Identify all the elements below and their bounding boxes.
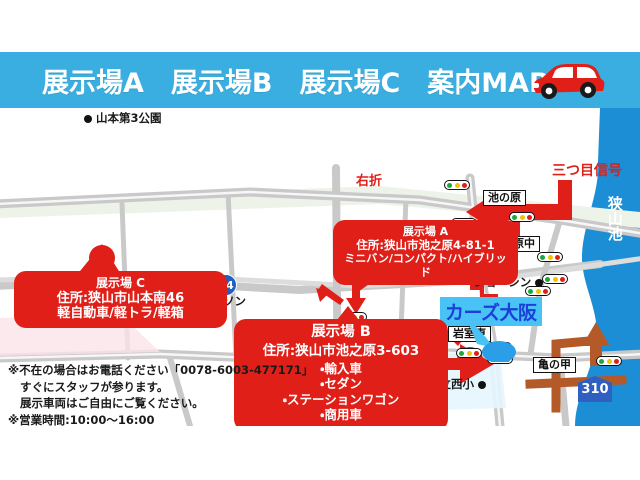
note-line-4: ※営業時間:10:00～16:00 [8, 412, 313, 429]
traffic-signal-icon [525, 286, 551, 296]
footer-notes: ※不在の場合はお電話ください「0078-6003-477171」 すぐにスタッフ… [8, 362, 313, 429]
direction-label-usetsu: 右折 [356, 170, 382, 189]
page-title: 展示場A 展示場B 展示場C 案内MAP [42, 61, 549, 100]
black-dot-icon [478, 381, 486, 389]
showroom-b-callout-tail [330, 306, 366, 326]
page-header: 展示場A 展示場B 展示場C 案内MAP [0, 52, 640, 108]
lake-label-sayamaike: 狭山池 [606, 196, 622, 241]
showroom-c-callout-tail [72, 244, 126, 278]
note-line-1: ※不在の場合はお電話ください「0078-6003-477171」 [8, 362, 313, 379]
red-car-icon [528, 57, 606, 103]
showroom-a-callout-tail [352, 272, 392, 294]
direction-label-third-signal: 三つ目信号 [552, 160, 622, 180]
traffic-signal-icon [542, 274, 568, 284]
note-line-2: すぐにスタッフが参ります。 [8, 379, 313, 396]
traffic-signal-icon [537, 252, 563, 262]
note-line-3: 展示車両はご自由にご覧ください。 [8, 395, 313, 412]
showroom-c-callout: 展示場 C 住所:狭山市山本南46 軽自動車/軽トラ/軽箱 [14, 271, 227, 328]
access-map-page: 展示場A 展示場B 展示場C 案内MAP [0, 0, 640, 480]
traffic-signal-icon [444, 180, 470, 190]
traffic-signal-icon [509, 212, 535, 222]
intersection-ikenohara: 池の原 [483, 190, 526, 206]
landmark-yamamoto-park: 山本第3公園 [84, 110, 162, 126]
black-dot-icon [84, 115, 92, 123]
intersection-kamenoko: 亀の甲 [533, 357, 576, 373]
brand-callout-pointer [455, 314, 525, 362]
traffic-signal-icon [596, 356, 622, 366]
